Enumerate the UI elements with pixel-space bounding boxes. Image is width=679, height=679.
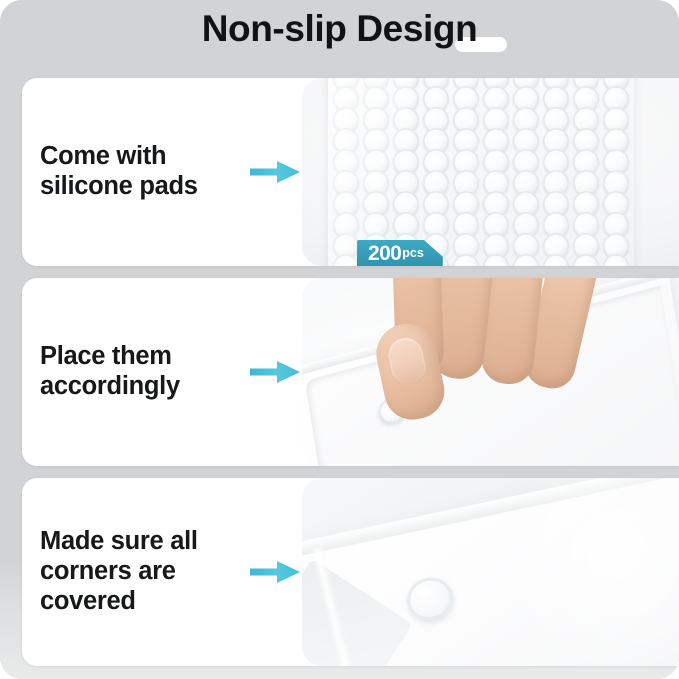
feature-card-3-text-pane: Made sure all corners are covered [22,478,302,666]
silicone-pad-sheet-image: 200 pcs [302,78,679,266]
pad-grid [331,78,631,266]
feature-card-3: Made sure all corners are covered [22,478,679,666]
hand-placing-pad-image [302,278,679,466]
arrow-right-icon [250,559,300,585]
tray-corner-closeup-image [302,478,679,666]
tray-bevel [302,478,679,564]
feature-card-2-text-pane: Place them accordingly [22,278,302,466]
white-tray-corner [302,478,679,666]
arrow-right-icon [250,359,300,385]
feature-card-3-photo [302,478,679,666]
feature-card-1-text-pane: Come with silicone pads [22,78,302,266]
feature-card-1-photo: 200 pcs [302,78,679,266]
thumbnail [385,335,427,385]
pad-sheet [328,78,634,266]
poster-header: Non-slip Design [0,0,679,72]
feature-card-1: Come with silicone pads [22,78,679,266]
product-feature-poster: Non-slip Design Come with silicone pads [0,0,679,679]
feature-card-2-caption: Place them accordingly [40,342,180,402]
silicone-pad [402,572,459,626]
page-title: Non-slip Design [0,8,679,50]
feature-card-3-caption: Made sure all corners are covered [40,527,198,616]
hand [380,278,610,392]
arrow-right-icon [250,159,300,185]
feature-card-1-caption: Come with silicone pads [40,142,198,202]
quantity-badge-unit: pcs [402,247,424,261]
feature-card-2-photo [302,278,679,466]
quantity-badge-count: 200 [368,243,401,264]
feature-card-2: Place them accordingly [22,278,679,466]
